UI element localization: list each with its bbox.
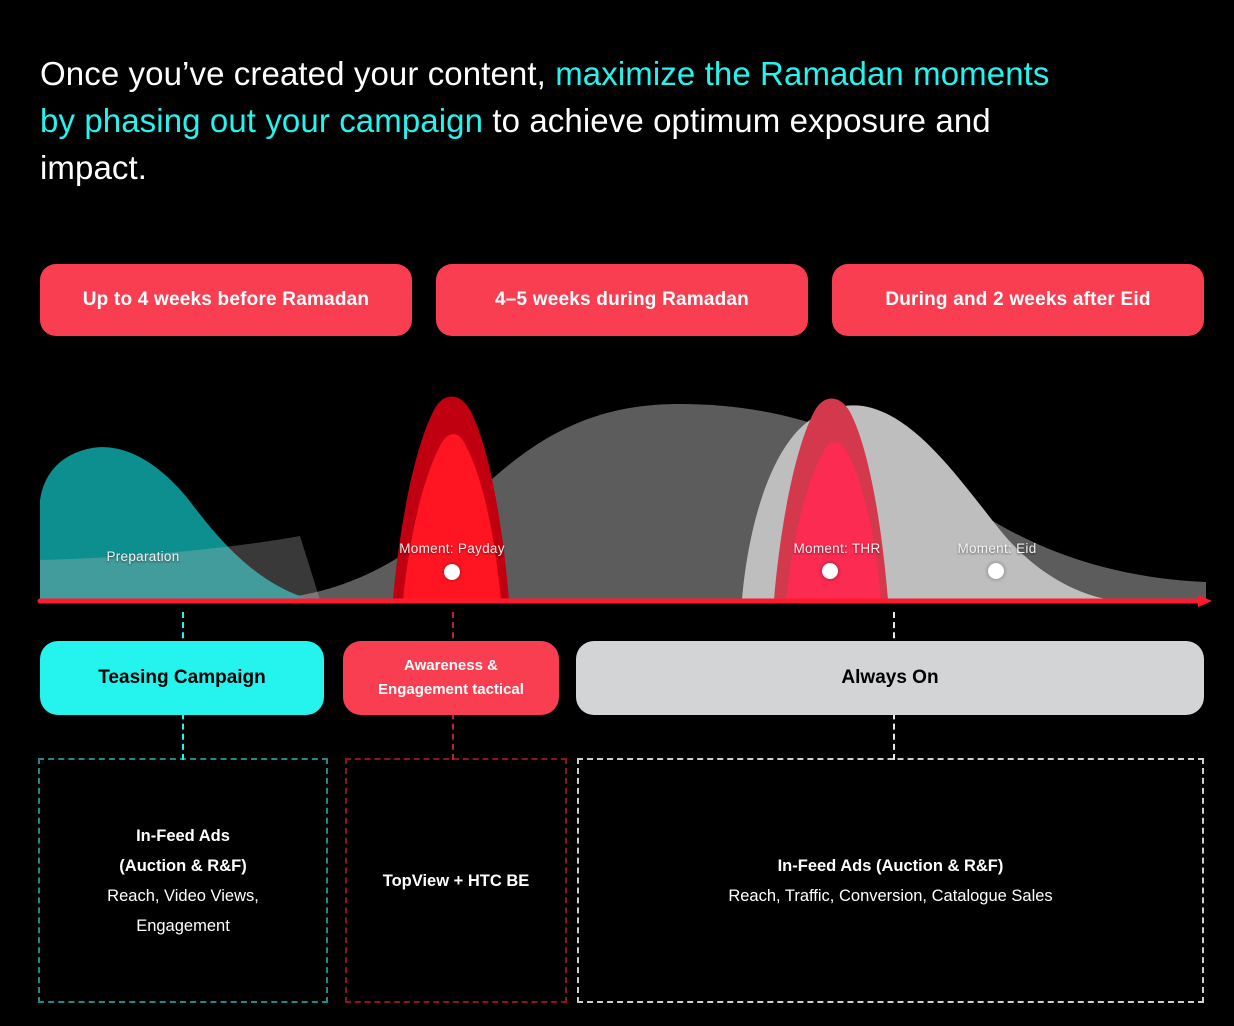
- detail-line: TopView + HTC BE: [383, 866, 530, 896]
- phase-pill-teasing-campaign[interactable]: Teasing Campaign: [40, 641, 324, 715]
- curve-dot-moment-thr: [822, 563, 838, 579]
- curve-dot-moment-eid: [988, 563, 1004, 579]
- phase-pill-label: Teasing Campaign: [98, 666, 266, 690]
- phase-pill-awareness-engagement[interactable]: Awareness & Engagement tactical: [343, 641, 559, 715]
- campaign-phasing-chart: Preparation Moment: Payday Moment: THR M…: [0, 380, 1234, 610]
- curve-label-moment-payday: Moment: Payday: [399, 541, 505, 556]
- curve-label-moment-thr: Moment: THR: [793, 541, 880, 556]
- detail-box-awareness: TopView + HTC BE: [345, 758, 567, 1003]
- detail-box-row: In-Feed Ads (Auction & R&F) Reach, Video…: [0, 758, 1234, 1003]
- timing-pill-row: Up to 4 weeks before Ramadan 4–5 weeks d…: [0, 264, 1234, 336]
- detail-box-always-on: In-Feed Ads (Auction & R&F) Reach, Traff…: [577, 758, 1204, 1003]
- phase-pill-label: Always On: [841, 666, 938, 690]
- curve-label-preparation: Preparation: [106, 549, 179, 564]
- timing-pill-label: 4–5 weeks during Ramadan: [495, 289, 749, 311]
- detail-line: Engagement: [136, 911, 230, 941]
- phase-pill-label-line1: Awareness &: [404, 657, 498, 674]
- timing-pill-before-ramadan[interactable]: Up to 4 weeks before Ramadan: [40, 264, 412, 336]
- timing-pill-label: During and 2 weeks after Eid: [885, 289, 1150, 311]
- curve-dot-moment-payday: [444, 564, 460, 580]
- phase-pill-always-on[interactable]: Always On: [576, 641, 1204, 715]
- slide-root: Once you’ve created your content, maximi…: [0, 0, 1234, 1026]
- curve-label-moment-eid: Moment: Eid: [957, 541, 1036, 556]
- detail-line: In-Feed Ads: [136, 821, 230, 851]
- detail-line: In-Feed Ads (Auction & R&F): [778, 851, 1004, 881]
- timing-pill-during-ramadan[interactable]: 4–5 weeks during Ramadan: [436, 264, 808, 336]
- phase-pill-row: Teasing Campaign Awareness & Engagement …: [0, 641, 1234, 715]
- timing-pill-after-eid[interactable]: During and 2 weeks after Eid: [832, 264, 1204, 336]
- phase-pill-label-line2: Engagement tactical: [378, 681, 524, 698]
- page-title: Once you’ve created your content, maximi…: [40, 50, 1050, 191]
- detail-box-teasing: In-Feed Ads (Auction & R&F) Reach, Video…: [38, 758, 328, 1003]
- detail-line: (Auction & R&F): [119, 851, 246, 881]
- detail-line: Reach, Traffic, Conversion, Catalogue Sa…: [728, 881, 1052, 911]
- timing-pill-label: Up to 4 weeks before Ramadan: [83, 289, 369, 311]
- chart-svg: [0, 380, 1234, 610]
- headline-part-1: Once you’ve created your content,: [40, 55, 555, 92]
- phase-pill-label: Awareness & Engagement tactical: [378, 654, 524, 702]
- detail-line: Reach, Video Views,: [107, 881, 259, 911]
